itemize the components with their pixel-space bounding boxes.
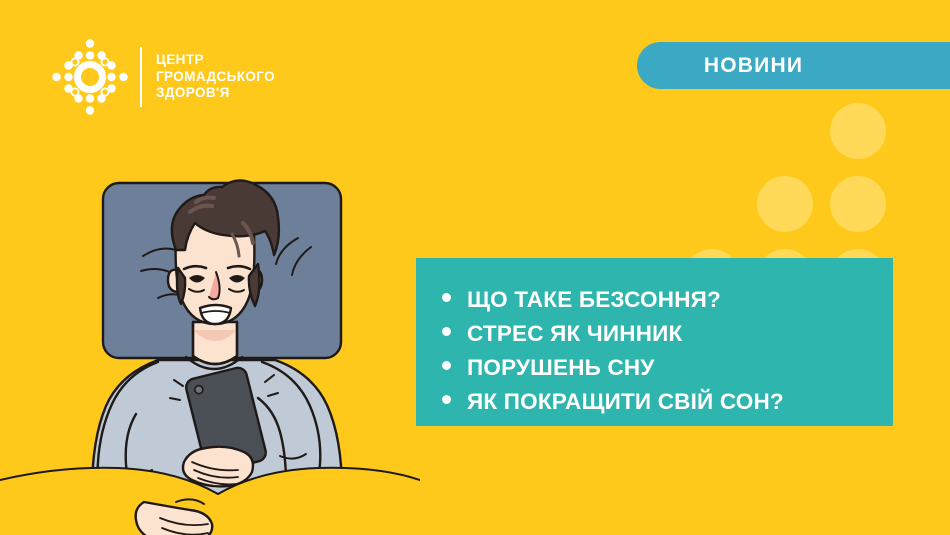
list-item: ЯК ПОКРАЩИТИ СВІЙ СОН? [442, 386, 893, 417]
list-item-label: ЩО ТАКЕ БЕЗСОННЯ? [467, 284, 721, 315]
list-item: ПОРУШЕНЬ СНУ [442, 352, 893, 383]
list-item-label: СТРЕС ЯК ЧИННИК [467, 318, 683, 349]
logo-line-3: ЗДОРОВ'Я [156, 85, 275, 102]
list-item: ЩО ТАКЕ БЕЗСОННЯ? [442, 284, 893, 315]
news-card-canvas: ЦЕНТР ГРОМАДСЬКОГО ЗДОРОВ'Я НОВИНИ [0, 0, 950, 535]
bullet-list-panel: ЩО ТАКЕ БЕЗСОННЯ? СТРЕС ЯК ЧИННИК ПОРУШЕ… [416, 258, 893, 426]
bullet-dot-icon [442, 395, 451, 404]
bullet-dot-icon [442, 361, 451, 370]
neck [193, 322, 237, 364]
decorative-circle [830, 103, 886, 159]
news-banner: НОВИНИ [637, 42, 950, 89]
upper-hand [183, 447, 253, 487]
list-item: СТРЕС ЯК ЧИННИК [442, 318, 893, 349]
bullet-dot-icon [442, 293, 451, 302]
news-banner-label: НОВИНИ [704, 54, 803, 78]
logo-divider [140, 47, 142, 107]
logo-line-1: ЦЕНТР [156, 52, 275, 69]
bullet-dot-icon [442, 327, 451, 336]
public-health-center-dot-logo-icon [48, 35, 132, 119]
decorative-circle [757, 176, 813, 232]
logo-wordmark: ЦЕНТР ГРОМАДСЬКОГО ЗДОРОВ'Я [156, 52, 275, 102]
person-lying-in-bed-with-phone-illustration [0, 150, 420, 535]
decorative-circle [830, 176, 886, 232]
list-item-label: ЯК ПОКРАЩИТИ СВІЙ СОН? [467, 386, 784, 417]
list-item-label: ПОРУШЕНЬ СНУ [467, 352, 655, 383]
logo-line-2: ГРОМАДСЬКОГО [156, 69, 275, 86]
open-mouth [200, 305, 231, 324]
organization-logo: ЦЕНТР ГРОМАДСЬКОГО ЗДОРОВ'Я [48, 32, 288, 122]
